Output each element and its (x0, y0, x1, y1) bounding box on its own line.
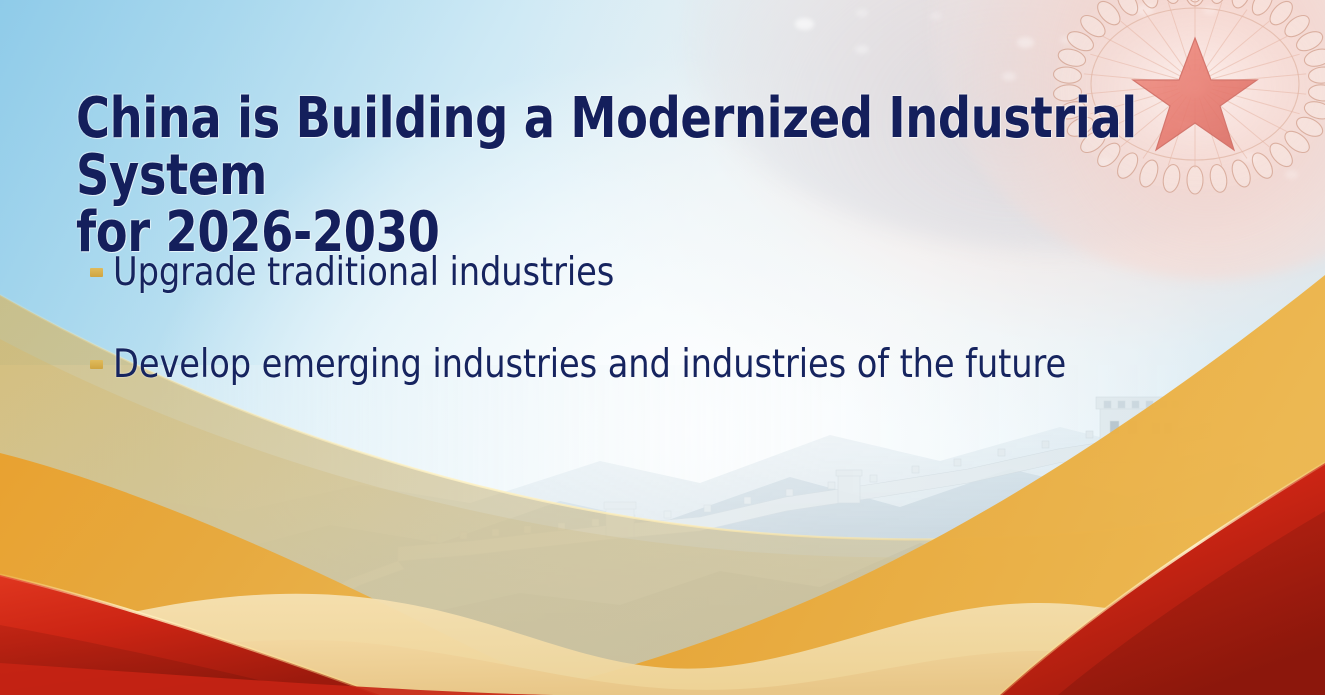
list-item: Upgrade traditional industries (90, 250, 1210, 295)
presentation-slide: China is Building a Modernized Industria… (0, 0, 1325, 695)
bokeh-dot (855, 45, 869, 54)
bokeh-dot (930, 12, 942, 20)
bokeh-dot (856, 9, 868, 17)
bullet-list: Upgrade traditional industries Develop e… (90, 250, 1210, 434)
page-title-line-1: China is Building a Modernized Industria… (76, 86, 1137, 208)
page-title: China is Building a Modernized Industria… (76, 90, 1194, 261)
bullet-label: Upgrade traditional industries (113, 250, 614, 295)
bokeh-dot (1285, 170, 1298, 179)
bokeh-dot (1017, 37, 1034, 48)
bokeh-dot (1002, 72, 1016, 81)
bullet-label: Develop emerging industries and industri… (113, 342, 1066, 387)
bokeh-dot (1240, 152, 1256, 163)
gold-dash-bullet-icon (90, 360, 103, 369)
bokeh-dot (1060, 36, 1072, 44)
bokeh-dot (1203, 6, 1217, 15)
gold-dash-bullet-icon (90, 268, 103, 277)
bokeh-dot (1136, 4, 1154, 16)
bokeh-dot (795, 18, 814, 30)
list-item: Develop emerging industries and industri… (90, 342, 1210, 387)
